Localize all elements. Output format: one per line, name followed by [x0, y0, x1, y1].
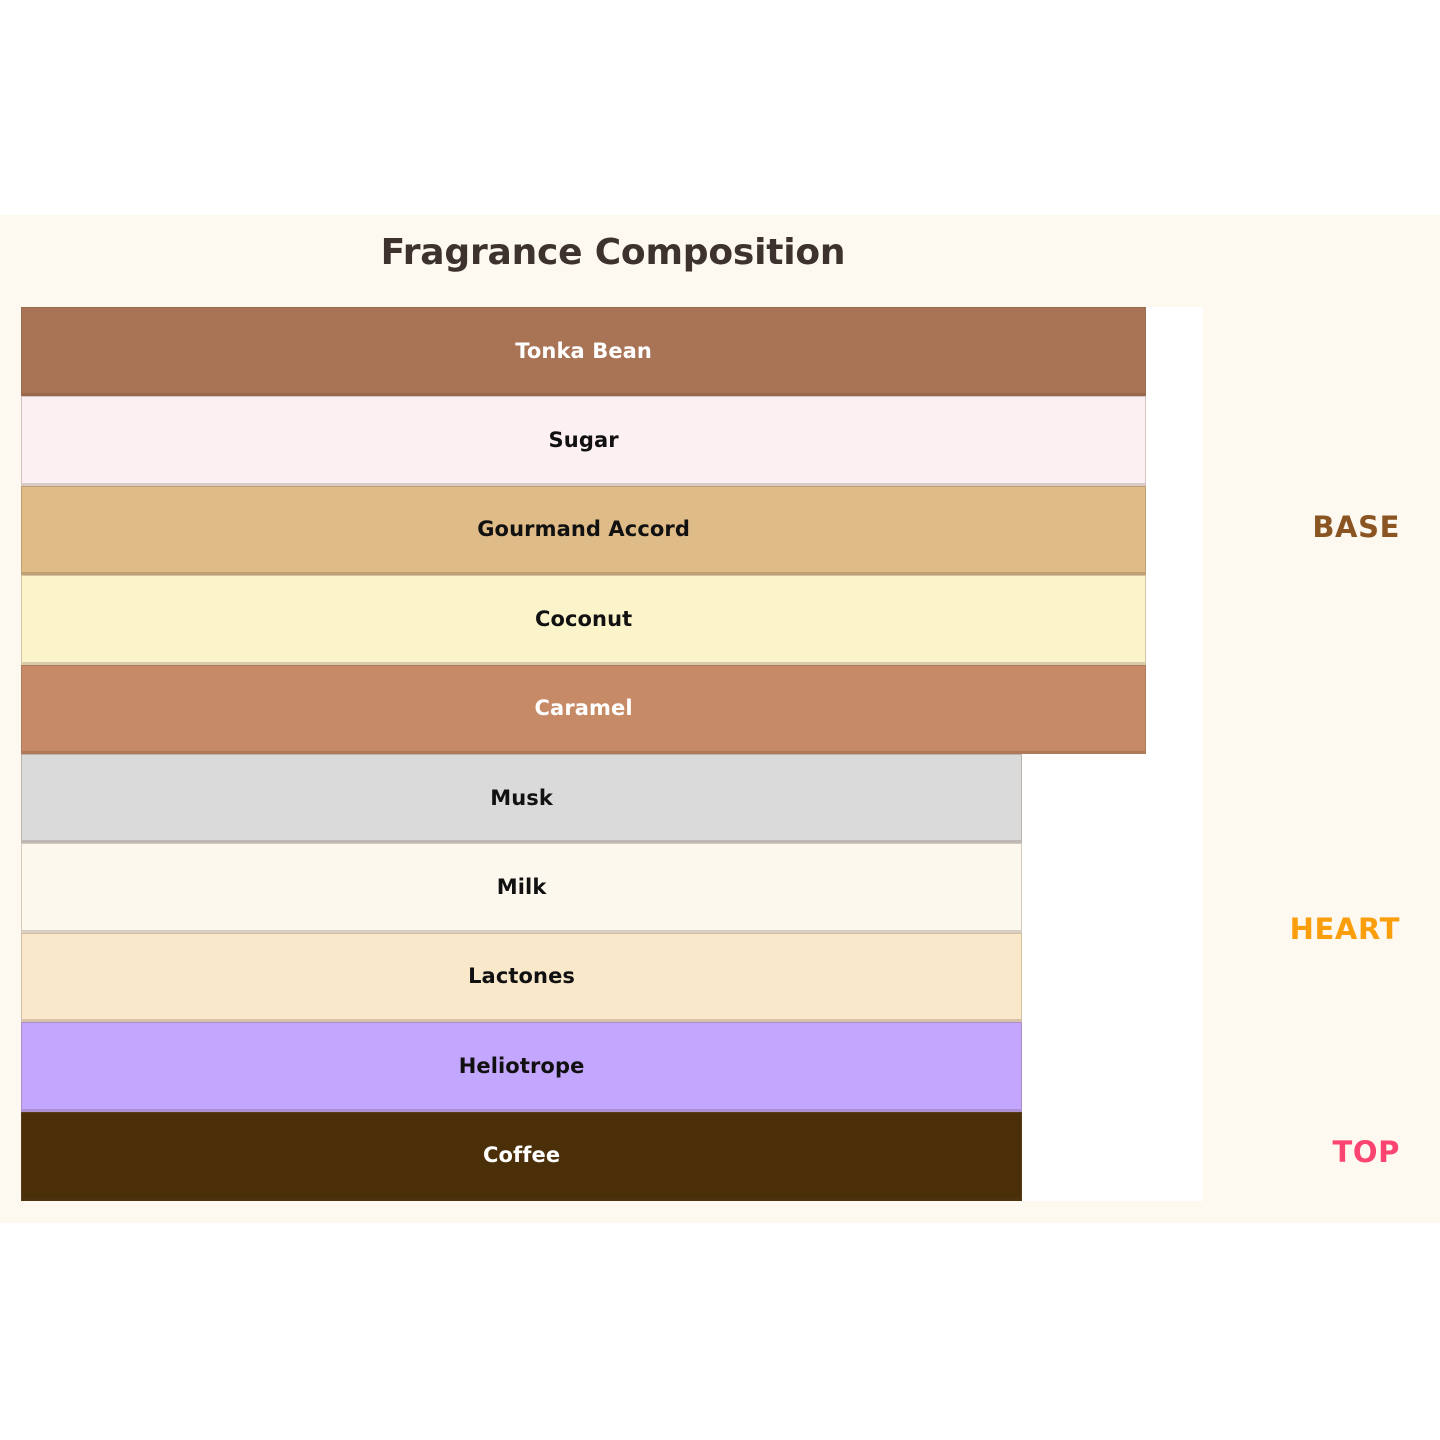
bar-sugar[interactable]: Sugar [21, 396, 1146, 485]
bar-row: Caramel [21, 665, 1203, 754]
plot-area: Tonka BeanSugarGourmand AccordCoconutCar… [21, 307, 1203, 1201]
bar-coffee[interactable]: Coffee [21, 1112, 1022, 1201]
group-label-heart: HEART [1290, 912, 1400, 946]
bar-label: Coffee [483, 1143, 560, 1167]
bar-label: Coconut [535, 607, 632, 631]
bar-row: Sugar [21, 396, 1203, 485]
bar-lactones[interactable]: Lactones [21, 933, 1022, 1022]
bar-label: Sugar [549, 428, 619, 452]
group-label-top: TOP [1333, 1135, 1401, 1169]
bar-label: Milk [497, 875, 547, 899]
bar-row: Lactones [21, 933, 1203, 1022]
bar-row: Heliotrope [21, 1022, 1203, 1111]
bar-tonka-bean[interactable]: Tonka Bean [21, 307, 1146, 396]
bar-label: Caramel [535, 696, 633, 720]
bar-milk[interactable]: Milk [21, 843, 1022, 932]
bar-musk[interactable]: Musk [21, 754, 1022, 843]
bar-label: Lactones [468, 964, 575, 988]
bar-gourmand-accord[interactable]: Gourmand Accord [21, 486, 1146, 575]
bar-label: Tonka Bean [515, 339, 652, 363]
bar-caramel[interactable]: Caramel [21, 665, 1146, 754]
bar-coconut[interactable]: Coconut [21, 575, 1146, 664]
group-label-base: BASE [1312, 510, 1400, 544]
bar-row: Coconut [21, 575, 1203, 664]
bar-row: Milk [21, 843, 1203, 932]
bar-row: Tonka Bean [21, 307, 1203, 396]
bar-label: Gourmand Accord [477, 517, 690, 541]
bar-label: Musk [490, 786, 553, 810]
bar-label: Heliotrope [459, 1054, 585, 1078]
bar-row: Gourmand Accord [21, 486, 1203, 575]
bar-row: Coffee [21, 1112, 1203, 1201]
bar-heliotrope[interactable]: Heliotrope [21, 1022, 1022, 1111]
bar-row: Musk [21, 754, 1203, 843]
page-title: Fragrance Composition [0, 232, 1226, 273]
figure-canvas: Fragrance Composition Tonka BeanSugarGou… [0, 215, 1440, 1223]
